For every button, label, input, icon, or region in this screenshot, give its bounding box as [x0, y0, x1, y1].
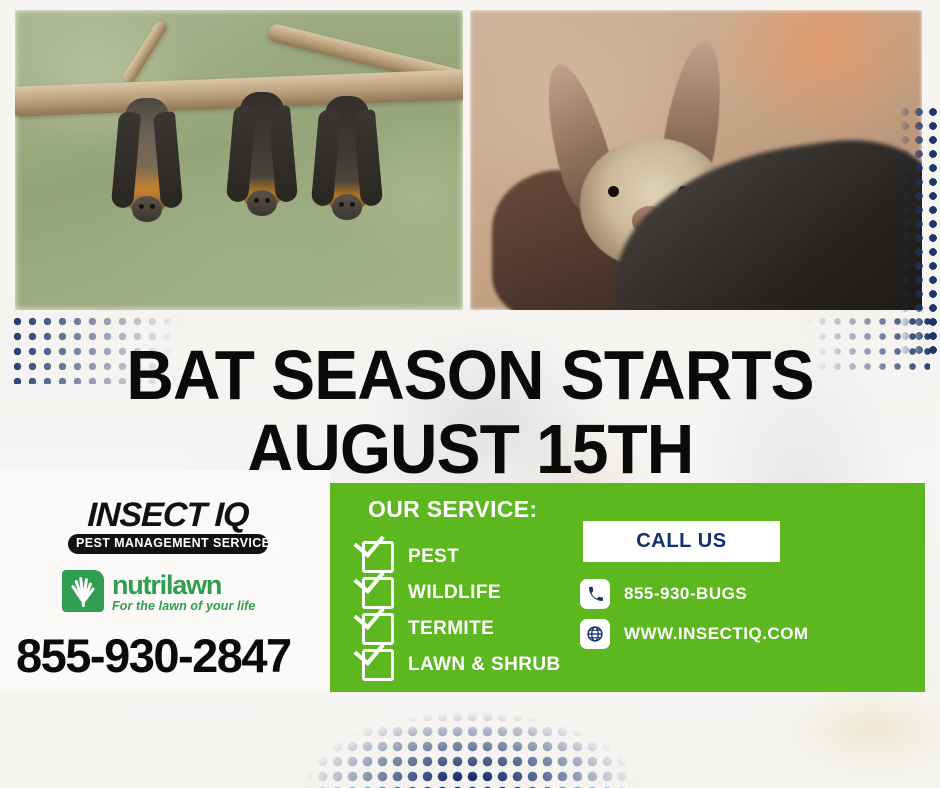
- insectiq-wordmark: INSECT IQ: [67, 498, 268, 532]
- bat-figure: [115, 98, 179, 216]
- website-url: WWW.INSECTIQ.COM: [624, 624, 809, 644]
- grass-icon: [62, 570, 104, 612]
- headline-line-1: BAT SEASON STARTS: [126, 336, 813, 414]
- photo-long-eared-bat: [470, 10, 922, 310]
- list-item: LAWN & SHRUB: [362, 647, 561, 683]
- bat-figure: [230, 92, 294, 210]
- service-label: PEST: [408, 546, 459, 568]
- contact-phone-row[interactable]: 855-930-BUGS: [580, 579, 747, 609]
- nutrilawn-wordmark: nutrilawn: [112, 572, 255, 598]
- phone-icon: [580, 579, 610, 609]
- phone-number: 855-930-BUGS: [624, 584, 747, 604]
- nutrilawn-text-block: nutrilawn For the lawn of your life: [112, 570, 255, 613]
- nutrilawn-logo: nutrilawn For the lawn of your life: [62, 570, 272, 618]
- nutrilawn-tagline: For the lawn of your life: [112, 599, 255, 613]
- bat-head: [132, 196, 162, 222]
- list-item: PEST: [362, 539, 561, 575]
- bat-head: [332, 194, 362, 220]
- globe-icon: [580, 619, 610, 649]
- headline: BAT SEASON STARTS AUGUST 15TH: [28, 338, 912, 486]
- service-label: LAWN & SHRUB: [408, 654, 561, 676]
- bat-head: [247, 190, 277, 216]
- bat-eye-left: [608, 186, 619, 197]
- list-item: TERMITE: [362, 611, 561, 647]
- dot-pattern-bottom: [270, 694, 670, 788]
- insectiq-logo: INSECT IQ PEST MANAGEMENT SERVICES: [68, 498, 268, 558]
- insectiq-tagline-band: PEST MANAGEMENT SERVICES: [68, 534, 268, 554]
- insectiq-tagline: PEST MANAGEMENT SERVICES: [76, 537, 260, 550]
- list-item: WILDLIFE: [362, 575, 561, 611]
- services-heading: OUR SERVICE:: [368, 496, 537, 523]
- photo-flying-foxes: [15, 10, 463, 310]
- bat-figure: [315, 96, 379, 214]
- service-label: WILDLIFE: [408, 582, 501, 604]
- services-panel: OUR SERVICE: PEST WILDLIFE TERMITE LAWN …: [330, 483, 925, 692]
- services-list: PEST WILDLIFE TERMITE LAWN & SHRUB: [362, 539, 561, 683]
- service-label: TERMITE: [408, 618, 494, 640]
- call-us-button[interactable]: CALL US: [583, 521, 780, 562]
- checkbox-checked-icon: [362, 649, 394, 681]
- main-phone-number[interactable]: 855-930-2847: [16, 632, 291, 679]
- contact-website-row[interactable]: WWW.INSECTIQ.COM: [580, 619, 809, 649]
- promotional-flyer: BAT SEASON STARTS AUGUST 15TH INSECT IQ …: [0, 0, 940, 788]
- call-us-label: CALL US: [636, 530, 727, 553]
